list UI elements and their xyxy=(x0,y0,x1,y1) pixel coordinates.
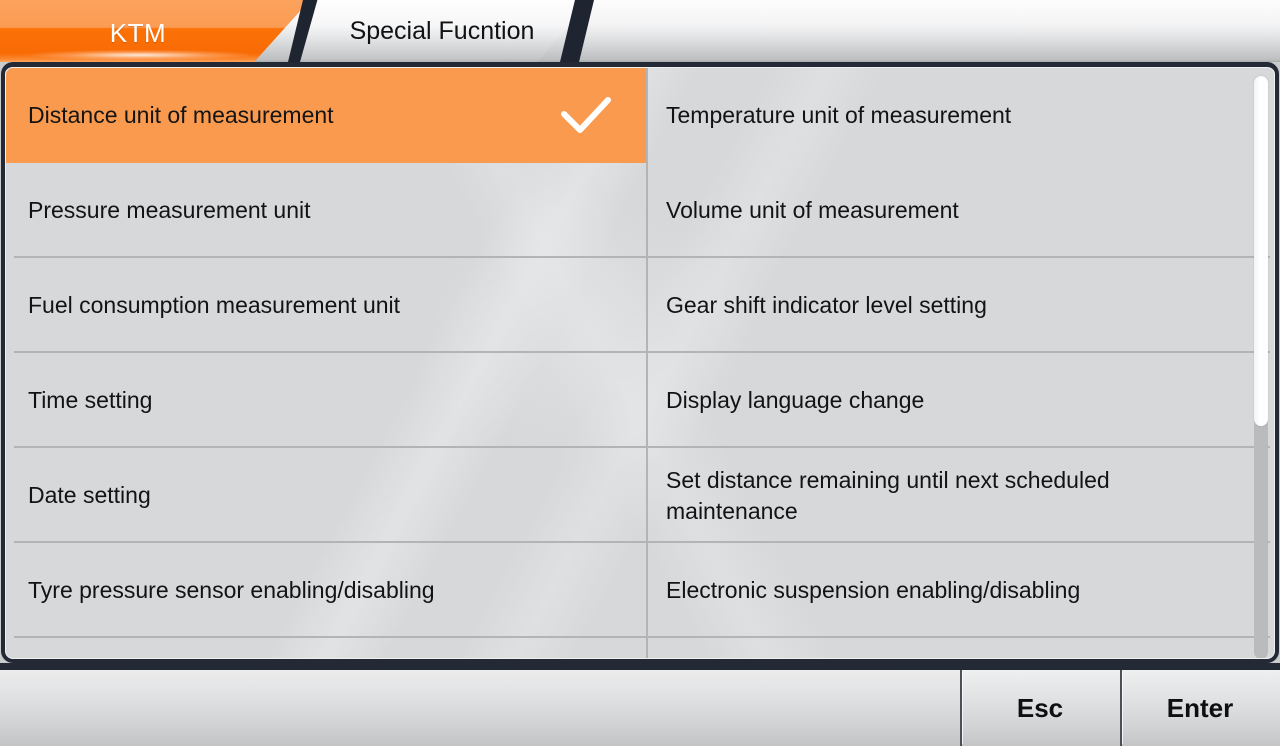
list-item-display-language[interactable]: Display language change xyxy=(646,353,1275,448)
list-item-time-setting[interactable]: Time setting xyxy=(6,353,646,448)
list-item-gear-shift-indicator[interactable]: Gear shift indicator level setting xyxy=(646,258,1275,353)
tab-special-function-label: Special Fucntion xyxy=(350,17,535,46)
list-item-label: Gear shift indicator level setting xyxy=(666,290,987,320)
tab-bar: KTM Special Fucntion xyxy=(0,0,1280,62)
esc-button[interactable]: Esc xyxy=(960,670,1120,746)
list-item-label: Volume unit of measurement xyxy=(666,195,959,225)
column-divider xyxy=(646,68,648,659)
list-item-label: Time setting xyxy=(28,385,152,415)
list-item-label: Display language change xyxy=(666,385,924,415)
list-item-label: Pressure measurement unit xyxy=(28,195,311,225)
table-row: Date setting Set distance remaining unti… xyxy=(6,448,1274,543)
list-item-pressure-unit[interactable]: Pressure measurement unit xyxy=(6,163,646,258)
table-row-partial xyxy=(6,638,1274,659)
bottom-button-bar: Esc Enter xyxy=(0,663,1280,746)
table-row: Distance unit of measurement Temperature… xyxy=(6,68,1274,163)
tab-ktm-label: KTM xyxy=(110,18,166,49)
enter-button-label: Enter xyxy=(1167,693,1233,724)
list-item-distance-unit[interactable]: Distance unit of measurement xyxy=(6,68,646,163)
table-row: Fuel consumption measurement unit Gear s… xyxy=(6,258,1274,353)
bottom-bar-spacer xyxy=(0,670,960,746)
list-item-tyre-pressure-sensor[interactable]: Tyre pressure sensor enabling/disabling xyxy=(6,543,646,638)
list-item-temperature-unit[interactable]: Temperature unit of measurement xyxy=(646,68,1275,163)
tab-ktm[interactable]: KTM xyxy=(0,0,310,62)
list-item-fuel-consumption-unit[interactable]: Fuel consumption measurement unit xyxy=(6,258,646,353)
list-item-partial-left[interactable] xyxy=(6,638,646,659)
function-grid: Distance unit of measurement Temperature… xyxy=(6,68,1274,659)
app-window: KTM Special Fucntion Distance unit of me… xyxy=(0,0,1280,746)
list-item-label: Tyre pressure sensor enabling/disabling xyxy=(28,575,435,605)
list-item-label: Fuel consumption measurement unit xyxy=(28,290,400,320)
list-item-label: Temperature unit of measurement xyxy=(666,100,1011,130)
list-item-label: Distance unit of measurement xyxy=(28,100,334,130)
vertical-scrollbar[interactable] xyxy=(1254,76,1268,659)
list-item-electronic-suspension[interactable]: Electronic suspension enabling/disabling xyxy=(646,543,1275,638)
list-item-service-distance[interactable]: Set distance remaining until next schedu… xyxy=(646,448,1275,543)
scrollbar-thumb[interactable] xyxy=(1254,76,1268,426)
function-list-panel: Distance unit of measurement Temperature… xyxy=(1,62,1279,663)
table-row: Tyre pressure sensor enabling/disabling … xyxy=(6,543,1274,638)
list-item-partial-right[interactable] xyxy=(646,638,1274,659)
enter-button[interactable]: Enter xyxy=(1120,670,1280,746)
table-row: Pressure measurement unit Volume unit of… xyxy=(6,163,1274,258)
esc-button-label: Esc xyxy=(1017,693,1063,724)
list-item-volume-unit[interactable]: Volume unit of measurement xyxy=(646,163,1275,258)
tab-special-function[interactable]: Special Fucntion xyxy=(300,0,590,62)
function-list-inner: Distance unit of measurement Temperature… xyxy=(5,67,1275,659)
list-item-label: Electronic suspension enabling/disabling xyxy=(666,575,1080,605)
check-icon xyxy=(556,92,616,140)
list-item-date-setting[interactable]: Date setting xyxy=(6,448,646,543)
list-item-label: Set distance remaining until next schedu… xyxy=(666,465,1226,526)
table-row: Time setting Display language change xyxy=(6,353,1274,448)
list-item-label: Date setting xyxy=(28,480,151,510)
